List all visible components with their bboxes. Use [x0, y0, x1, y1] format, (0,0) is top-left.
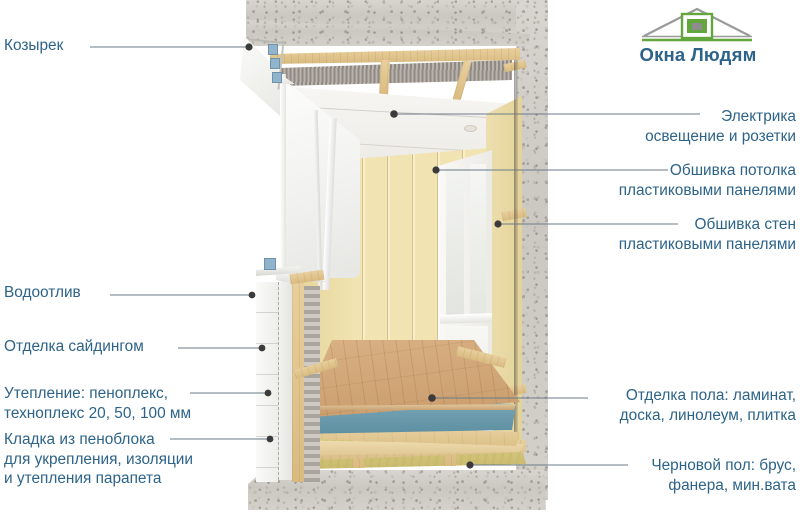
label-kozyrek-line-1: Козырек: [4, 36, 63, 56]
label-obshivka-potolka: Обшивка потолка пластиковыми панелями: [619, 161, 796, 200]
label-uteplenie-line-1: Утепление: пеноплекс,: [4, 384, 191, 404]
label-steny-line-1: Обшивка стен: [619, 215, 796, 235]
label-kladka-line-1: Кладка из пеноблока: [4, 430, 193, 450]
balcony-cutaway-illustration: [240, 0, 560, 529]
label-uteplenie-line-2: техноплекс 20, 50, 100 мм: [4, 404, 191, 424]
parapet-batten-vertical: [292, 276, 304, 482]
label-otdelka-saydingom: Отделка сайдингом: [4, 337, 144, 357]
canopy-fixing-2: [270, 58, 280, 69]
brand-name: Окна Людям: [600, 44, 796, 66]
siding-seam-lines: [256, 282, 278, 482]
house-window-logo-icon: [638, 6, 756, 44]
ceiling-light-1: [465, 126, 476, 131]
window-frame-outer: [280, 74, 286, 292]
label-potolok-line-1: Обшивка потолка: [619, 161, 796, 181]
label-pol-line-2: доска, линолеум, плитка: [620, 406, 796, 426]
door-rail: [440, 313, 492, 324]
door-glass-panel: [446, 168, 464, 316]
label-chernovoy-line-1: Черновой пол: брус,: [651, 456, 796, 476]
foam-block-masonry: [304, 286, 320, 482]
label-kladka-penoblok: Кладка из пеноблока для укрепления, изол…: [4, 430, 193, 489]
label-kladka-line-3: и утепления парапета: [4, 469, 193, 489]
label-kladka-line-2: для укрепления, изоляции: [4, 450, 193, 470]
label-chernovoy-line-2: фанера, мин.вата: [651, 476, 796, 496]
water-deflector-bracket: [264, 258, 276, 270]
ceiling-cross-batten: [379, 60, 390, 96]
label-potolok-line-2: пластиковыми панелями: [619, 181, 796, 201]
diagram-canvas: Окна Людям Козырек Водоотлив Отделка сай…: [0, 0, 800, 529]
label-vodootliv-line-1: Водоотлив: [4, 283, 81, 303]
label-chernovoy-pol: Черновой пол: брус, фанера, мин.вата: [651, 456, 796, 495]
label-uteplenie: Утепление: пеноплекс, техноплекс 20, 50,…: [4, 384, 191, 423]
label-pol-line-1: Отделка пола: ламинат,: [620, 386, 796, 406]
insulation-board-layer: [278, 282, 293, 480]
label-obshivka-sten: Обшивка стен пластиковыми панелями: [619, 215, 796, 254]
label-otdelka-pola: Отделка пола: ламинат, доска, линолеум, …: [620, 386, 796, 425]
brand-logo[interactable]: Окна Людям: [600, 6, 796, 68]
canopy-fixing-3: [272, 72, 282, 83]
label-elektrika: Электрика освещение и розетки: [645, 107, 796, 146]
ceiling-insulation-gap: [280, 60, 512, 86]
label-steny-line-2: пластиковыми панелями: [619, 235, 796, 255]
door-glass-panel-2: [470, 164, 486, 314]
label-elektrika-line-2: освещение и розетки: [645, 127, 796, 147]
label-saydingom-line-1: Отделка сайдингом: [4, 337, 144, 357]
label-elektrika-line-1: Электрика: [645, 107, 796, 127]
canopy-fixing-1: [268, 44, 278, 55]
label-vodootliv: Водоотлив: [4, 283, 81, 303]
label-kozyrek: Козырек: [4, 36, 63, 56]
